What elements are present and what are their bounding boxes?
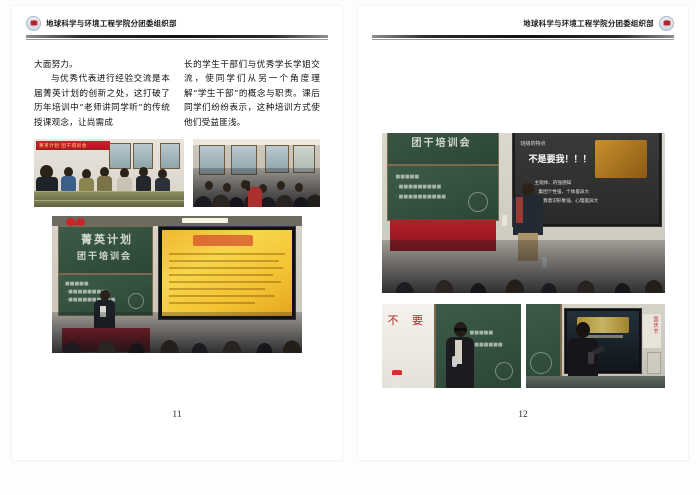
page-11-photo-row: 菁英计划 团干培训会 xyxy=(34,139,320,207)
blackboard: 菁英计划 团干培训会 xyxy=(387,133,499,165)
page-12-body: 菁英计划 团干培训会 ■■■■■ · ■■■■■■■■■ · ■■■■■■■■■… xyxy=(358,40,688,436)
page-11-organization-name: 地球科学与环境工程学院分团委组织部 xyxy=(46,18,177,29)
document-spread: 地球科学与环境工程学院分团委组织部 大面努力。 与优秀代表进行经验交流是本届菁英… xyxy=(0,0,700,495)
paragraph: 大面努力。 xyxy=(34,58,170,72)
page-11-number: 11 xyxy=(12,410,342,420)
department-emblem-icon xyxy=(659,16,674,31)
page-11-header-rule xyxy=(26,35,328,38)
photo-banner-text: 菁英计划 团干培训会 xyxy=(39,143,87,149)
page-12-header-rule xyxy=(372,35,674,38)
page-12-number: 12 xyxy=(358,410,688,420)
page-11-text-columns: 大面努力。 与优秀代表进行经验交流是本届菁英计划的创新之处，这打破了历年培训中“… xyxy=(34,58,320,130)
page-12-header: 地球科学与环境工程学院分团委组织部 xyxy=(358,6,688,40)
page-11-header: 地球科学与环境工程学院分团委组织部 xyxy=(12,6,342,40)
paragraph: 与优秀代表进行经验交流是本届菁英计划的创新之处，这打破了历年培训中“老师讲同学听… xyxy=(34,72,170,130)
page-11-right-column: 长的学生干部们与优秀学长学姐交流，使同学们从另一个角度理解“学生干部”的概念与职… xyxy=(184,58,320,130)
blackboard-subtitle: 团干培训会 xyxy=(412,134,472,149)
page-11-body: 大面努力。 与优秀代表进行经验交流是本届菁英计划的创新之处，这打破了历年培训中“… xyxy=(12,40,342,436)
photo-banner: 菁英计划 团干培训会 xyxy=(36,141,110,150)
blackboard: 菁英计划 团干培训会 xyxy=(58,226,153,274)
photo-lecture-hall-front-row: 菁英计划 团干培训会 xyxy=(34,139,184,207)
photo-presenter-slide: 菁英计划 团干培训会 ■■■■■ · ■■■■■■■■■ · ■■■■■■■■■… xyxy=(382,133,665,293)
page-11-left-column: 大面努力。 与优秀代表进行经验交流是本届菁英计划的创新之处，这打破了历年培训中“… xyxy=(34,58,170,130)
slide-heading: 班级的特点 xyxy=(521,140,546,147)
page-11: 地球科学与环境工程学院分团委组织部 大面努力。 与优秀代表进行经验交流是本届菁英… xyxy=(12,6,342,460)
projection-screen xyxy=(158,226,296,320)
page-12: 地球科学与环境工程学院分团委组织部 菁英计划 团干培训会 ■■■■■ · ■■■… xyxy=(358,6,688,460)
page-12-organization-name: 地球科学与环境工程学院分团委组织部 xyxy=(523,18,654,29)
blackboard-subtitle: 团干培训会 xyxy=(77,249,132,262)
page-12-photo-row: 不 要 望 ■■■■■ ■■■■■■■ xyxy=(380,304,666,388)
paragraph: 长的学生干部们与优秀学长学姐交流，使同学们从另一个角度理解“学生干部”的概念与职… xyxy=(184,58,320,130)
slide-bullet: 主观体、的强感知 xyxy=(535,180,572,186)
slide-bullet: 集团个性强、个体差异大 xyxy=(539,189,590,195)
slide-highlight: 不是要我！！！ xyxy=(529,152,592,165)
photo-speaker-glasses: 不 要 望 ■■■■■ ■■■■■■■ xyxy=(382,304,521,388)
blackboard-title: 菁英计划 xyxy=(81,231,133,247)
photo-crowded-classroom xyxy=(193,139,320,207)
photo-speaker-microphone: 国庆节 xyxy=(526,304,665,388)
slide-bullet: 自我意识形象强、心理差异大 xyxy=(539,198,599,204)
department-emblem-icon xyxy=(26,16,41,31)
photo-speaker-with-projection: 菁英计划 团干培训会 ■■■■■ · ■■■■■■■■ · ■■■■■■■■■■ xyxy=(52,216,302,353)
